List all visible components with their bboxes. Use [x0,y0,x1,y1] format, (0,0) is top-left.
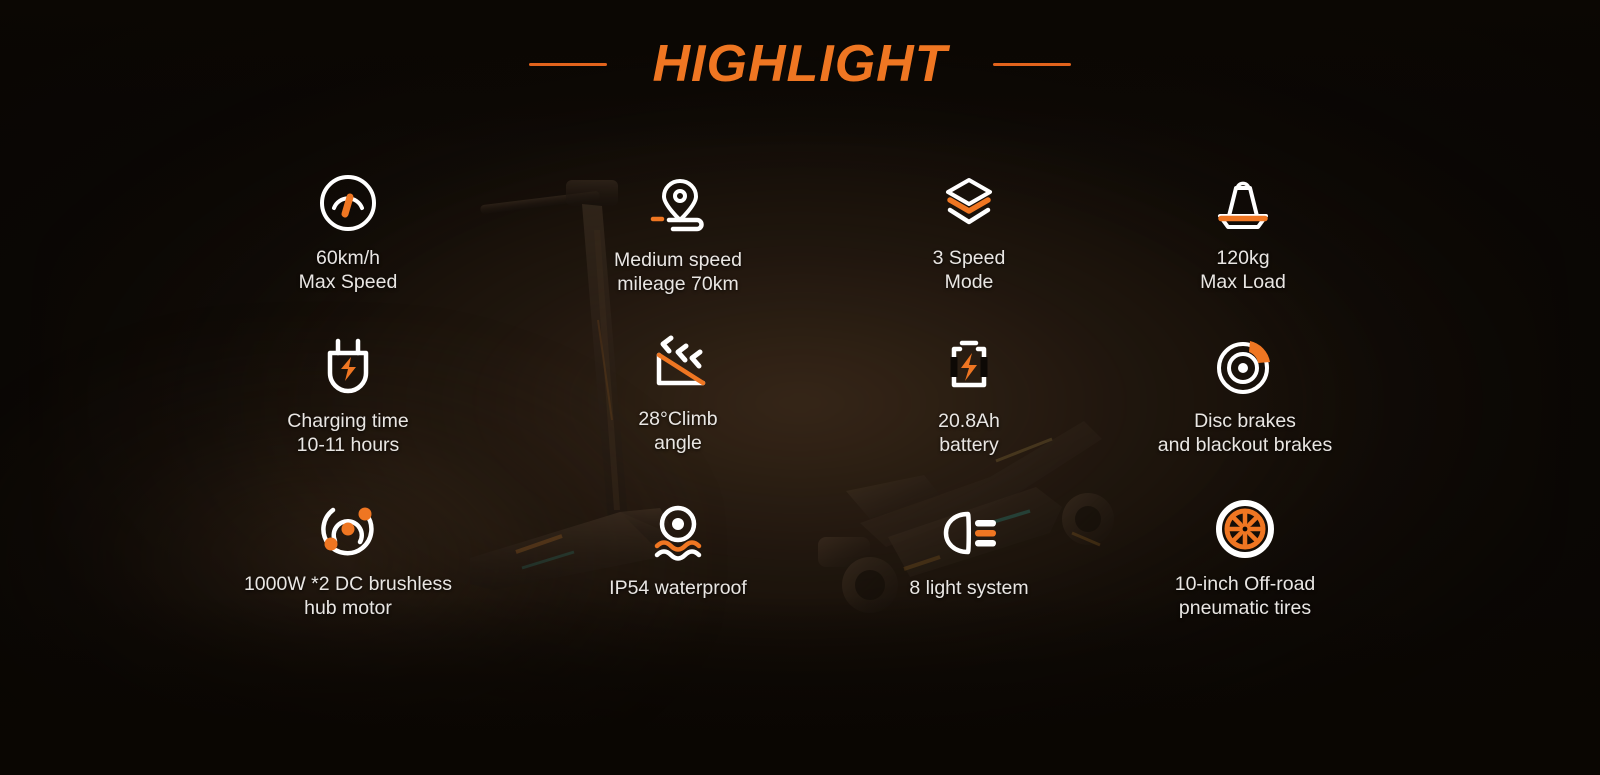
feature-line2: pneumatic tires [1179,597,1311,619]
feature-line1: 10-inch Off-road [1175,573,1316,595]
feature-caption: 3 SpeedMode [933,247,1006,295]
plug-bolt-icon [317,335,379,397]
feature-caption: 120kgMax Load [1200,247,1286,295]
feature-line2: Max Speed [299,271,398,293]
feature-line1: 1000W *2 DC brushless [244,573,452,595]
feature-line1: IP54 waterproof [609,577,747,599]
speedometer-icon [317,172,379,234]
feature-grid: 60km/hMax Speed Medium speedmileage 70km… [204,168,1396,657]
feature-caption: 10-inch Off-roadpneumatic tires [1115,573,1375,621]
feature-hub-motor: 1000W *2 DC brushlesshub motor [199,494,497,657]
feature-caption: IP54 waterproof [609,577,747,601]
title-rule-right [993,63,1071,66]
feature-waterproof: IP54 waterproof [529,498,827,661]
feature-line2: mileage 70km [617,273,738,295]
feature-line1: 8 light system [909,577,1028,599]
feature-line1: 120kg [1216,247,1269,269]
feature-caption: Disc brakesand blackout brakes [1115,410,1375,458]
route-pin-icon [647,174,709,236]
feature-caption: 1000W *2 DC brushlesshub motor [218,573,478,621]
feature-caption: 28°Climbangle [638,408,717,456]
feature-caption: Charging time10-11 hours [287,410,408,458]
page-title: HIGHLIGHT [653,34,948,94]
battery-bolt-icon [938,335,1000,397]
title-rule-left [529,63,607,66]
page-header: HIGHLIGHT [0,34,1600,94]
feature-max-load: 120kgMax Load [1094,168,1392,331]
feature-line2: Mode [945,271,994,293]
feature-line2: angle [654,432,702,454]
feature-line1: 3 Speed [933,247,1006,269]
feature-line1: Medium speed [614,249,742,271]
tire-wheel-icon [1214,498,1276,560]
feature-disc-brakes: Disc brakesand blackout brakes [1096,331,1394,494]
feature-climb-angle: 28°Climbangle [529,329,827,492]
feature-charging-time: Charging time10-11 hours [199,331,497,494]
disc-brake-icon [1214,335,1276,397]
feature-light-system: 8 light system [820,498,1118,661]
feature-line2: Max Load [1200,271,1286,293]
hub-motor-icon [317,498,379,560]
climb-angle-icon [647,333,709,395]
feature-caption: 20.8Ahbattery [938,410,1000,458]
weight-icon [1212,172,1274,234]
feature-line1: 28°Climb [638,408,717,430]
feature-line2: battery [939,434,999,456]
feature-caption: 60km/hMax Speed [299,247,398,295]
feature-speed-mode: 3 SpeedMode [820,168,1118,331]
feature-tires: 10-inch Off-roadpneumatic tires [1096,494,1394,657]
waterproof-icon [647,502,709,564]
feature-line1: 60km/h [316,247,380,269]
feature-battery: 20.8Ahbattery [820,331,1118,494]
feature-max-speed: 60km/hMax Speed [199,168,497,331]
feature-caption: Medium speedmileage 70km [614,249,742,297]
feature-line2: and blackout brakes [1158,434,1333,456]
feature-line1: Charging time [287,410,408,432]
feature-line2: hub motor [304,597,392,619]
feature-line1: Disc brakes [1194,410,1296,432]
layers-icon [938,172,1000,234]
headlight-icon [938,502,1000,564]
feature-caption: 8 light system [909,577,1028,601]
feature-line1: 20.8Ah [938,410,1000,432]
feature-mileage: Medium speedmileage 70km [529,170,827,333]
feature-line2: 10-11 hours [297,434,400,456]
